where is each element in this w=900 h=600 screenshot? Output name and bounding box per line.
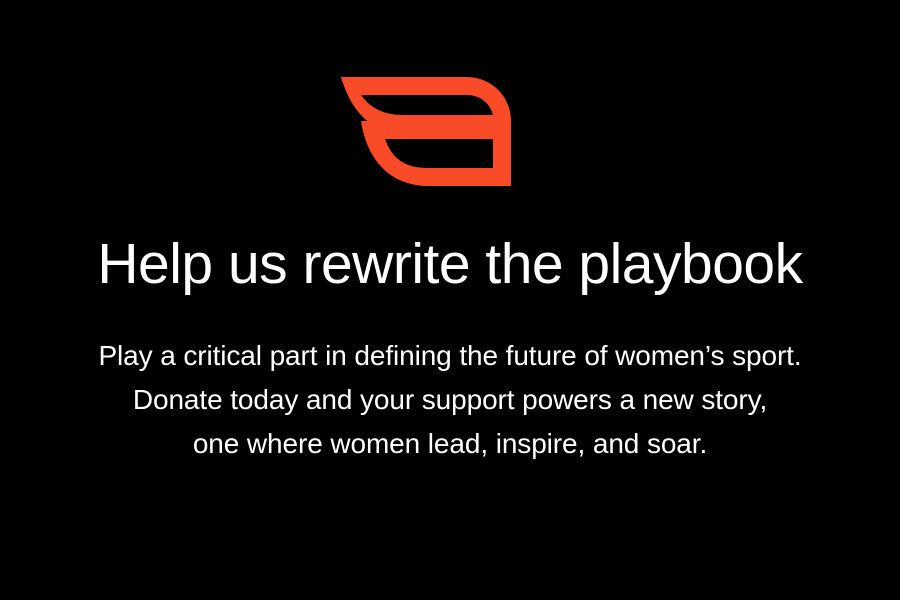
page-title: Help us rewrite the playbook (0, 233, 900, 297)
hero-body-line: Donate today and your support powers a n… (0, 378, 900, 422)
donation-promo-panel: Help us rewrite the playbook Play a crit… (0, 0, 900, 600)
wing-mark-logo (341, 77, 511, 186)
hero-body-line: Play a critical part in defining the fut… (0, 334, 900, 378)
hero-body-line: one where women lead, inspire, and soar. (0, 422, 900, 466)
hero-body-copy: Play a critical part in defining the fut… (0, 334, 900, 466)
logo-lower-wing (361, 121, 511, 186)
